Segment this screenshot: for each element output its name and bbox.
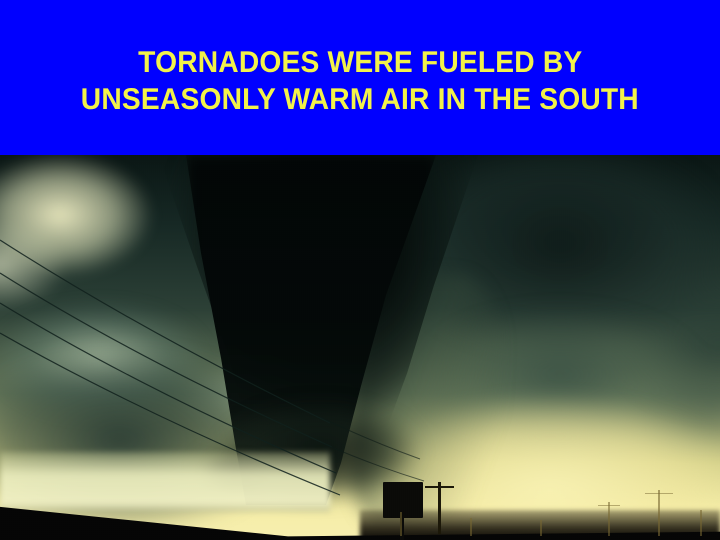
power-line-3 (0, 303, 336, 473)
utility-pole-2 (400, 512, 402, 536)
utility-pole-main-crossarm (425, 486, 454, 488)
power-line-4 (0, 333, 340, 495)
utility-pole-5-crossarm (598, 505, 620, 506)
utility-pole-4 (540, 520, 542, 536)
power-line-1-continuation (320, 417, 420, 459)
power-lines-group (0, 155, 720, 540)
utility-pole-6 (658, 490, 660, 536)
utility-pole-5 (608, 502, 610, 536)
tornado-photograph (0, 155, 720, 540)
utility-pole-main (438, 482, 441, 534)
slide-canvas: TORNADOES WERE FUELED BY UNSEASONLY WARM… (0, 0, 720, 540)
title-banner: TORNADOES WERE FUELED BY UNSEASONLY WARM… (0, 0, 720, 155)
utility-pole-3 (470, 518, 472, 536)
title-line-1: TORNADOES WERE FUELED BY (138, 44, 582, 81)
power-line-2-continuation (322, 443, 424, 481)
utility-pole-7 (700, 510, 702, 536)
title-line-2: UNSEASONLY WARM AIR IN THE SOUTH (81, 81, 639, 118)
utility-pole-6-crossarm (645, 493, 673, 494)
roadside-sign (383, 482, 423, 518)
